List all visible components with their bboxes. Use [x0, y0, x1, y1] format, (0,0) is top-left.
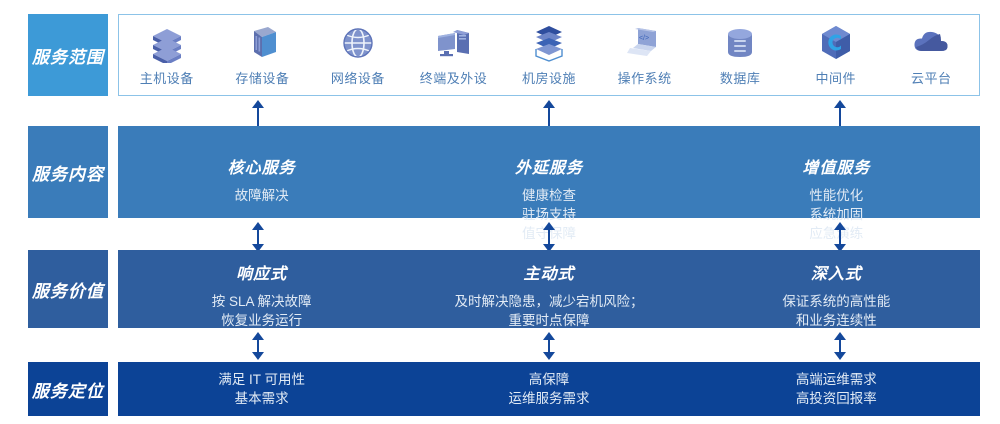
service-positioning-columns: 满足 IT 可用性基本需求高保障运维服务需求高端运维需求高投资回报率 — [118, 362, 980, 424]
positioning-line: 运维服务需求 — [508, 389, 589, 408]
service-value-columns: 响应式按 SLA 解决故障恢复业务运行主动式及时解决隐患，减少宕机风险；重要时点… — [118, 250, 980, 338]
scope-item-label: 云平台 — [911, 68, 952, 87]
positioning-column-lines: 满足 IT 可用性基本需求 — [218, 370, 305, 408]
arrow-shaft — [548, 339, 550, 353]
positioning-line: 高保障 — [508, 370, 589, 389]
service-content-panel: 核心服务故障解决外延服务健康检查驻场支持值守保障增值服务性能优化系统加固应急演练 — [118, 126, 980, 218]
positioning-line: 基本需求 — [218, 389, 305, 408]
server-stack-icon — [147, 23, 187, 63]
positioning-column-3[interactable]: 高端运维需求高投资回报率 — [693, 370, 980, 424]
content-column-title: 外延服务 — [515, 154, 583, 178]
scope-item-label: 中间件 — [815, 68, 856, 87]
globe-network-icon — [338, 23, 378, 63]
connector-value-to-position-center — [542, 332, 556, 360]
content-line: 故障解决 — [235, 186, 289, 205]
arrow-shaft — [257, 229, 259, 245]
service-positioning-panel: 满足 IT 可用性基本需求高保障运维服务需求高端运维需求高投资回报率 — [118, 362, 980, 416]
scope-item-label: 机房设施 — [522, 68, 576, 87]
connector-scope-to-content-left — [251, 100, 265, 126]
scope-icon-row: 主机设备 存储设备 网络设备 终端及外设 机房设施 — [119, 15, 979, 95]
content-line: 健康检查 — [522, 186, 576, 205]
arrow-head-down-icon — [543, 352, 555, 360]
value-column-title: 响应式 — [236, 260, 287, 284]
value-column-lines: 及时解决隐患，减少宕机风险；重要时点保障 — [454, 292, 643, 330]
positioning-column-1[interactable]: 满足 IT 可用性基本需求 — [118, 370, 405, 424]
row-label-service-value: 服务价值 — [28, 250, 108, 328]
value-line: 按 SLA 解决故障 — [212, 292, 312, 311]
cloud-platform-icon — [911, 23, 951, 63]
svg-text:</>: </> — [639, 35, 649, 42]
arrow-shaft — [548, 229, 550, 245]
row-label-service-content: 服务内容 — [28, 126, 108, 218]
value-column-title: 主动式 — [523, 260, 574, 284]
service-scope-panel: 主机设备 存储设备 网络设备 终端及外设 机房设施 — [118, 14, 980, 96]
service-value-panel: 响应式按 SLA 解决故障恢复业务运行主动式及时解决隐患，减少宕机风险；重要时点… — [118, 250, 980, 328]
positioning-column-lines: 高保障运维服务需求 — [508, 370, 589, 408]
connector-content-to-value-center — [542, 222, 556, 252]
value-column-lines: 按 SLA 解决故障恢复业务运行 — [212, 292, 312, 330]
scope-item-4[interactable]: 终端及外设 — [406, 15, 502, 95]
value-line: 保证系统的高性能 — [782, 292, 890, 311]
value-column-2[interactable]: 主动式及时解决隐患，减少宕机风险；重要时点保障 — [405, 260, 692, 338]
arrow-head-down-icon — [252, 352, 264, 360]
positioning-column-2[interactable]: 高保障运维服务需求 — [405, 370, 692, 424]
arrow-shaft — [839, 229, 841, 245]
row-label-service-positioning: 服务定位 — [28, 362, 108, 416]
scope-item-8[interactable]: 中间件 — [788, 15, 884, 95]
data-center-facility-icon — [529, 23, 569, 63]
content-line: 性能优化 — [809, 186, 863, 205]
scope-item-label: 终端及外设 — [420, 68, 488, 87]
value-line: 及时解决隐患，减少宕机风险； — [454, 292, 643, 311]
value-line: 重要时点保障 — [454, 311, 643, 330]
middleware-cube-icon — [816, 23, 856, 63]
service-framework-diagram: 服务范围 主机设备 存储设备 网络设备 — [0, 0, 1000, 424]
scope-item-1[interactable]: 主机设备 — [119, 15, 215, 95]
scope-item-5[interactable]: 机房设施 — [501, 15, 597, 95]
value-column-title: 深入式 — [811, 260, 862, 284]
scope-item-label: 操作系统 — [618, 68, 672, 87]
scope-item-label: 主机设备 — [140, 68, 194, 87]
row-label-text: 服务内容 — [32, 160, 104, 185]
row-label-text: 服务价值 — [32, 277, 104, 302]
scope-item-label: 网络设备 — [331, 68, 385, 87]
scope-item-3[interactable]: 网络设备 — [310, 15, 406, 95]
storage-array-icon — [242, 23, 282, 63]
connector-value-to-position-right — [833, 332, 847, 360]
arrow-shaft — [257, 339, 259, 353]
arrow-shaft — [839, 107, 841, 126]
value-column-3[interactable]: 深入式保证系统的高性能和业务连续性 — [693, 260, 980, 338]
connector-scope-to-content-right — [833, 100, 847, 126]
scope-item-6[interactable]: </> 操作系统 — [597, 15, 693, 95]
positioning-column-lines: 高端运维需求高投资回报率 — [796, 370, 877, 408]
content-column-lines: 故障解决 — [235, 186, 289, 205]
connector-scope-to-content-center — [542, 100, 556, 126]
arrow-shaft — [839, 339, 841, 353]
positioning-line: 高端运维需求 — [796, 370, 877, 389]
operating-system-icon: </> — [625, 23, 665, 63]
scope-item-label: 存储设备 — [235, 68, 289, 87]
database-cylinder-icon — [720, 23, 760, 63]
arrow-shaft — [548, 107, 550, 126]
content-column-title: 核心服务 — [228, 154, 296, 178]
value-line: 和业务连续性 — [782, 311, 890, 330]
value-line: 恢复业务运行 — [212, 311, 312, 330]
scope-item-7[interactable]: 数据库 — [692, 15, 788, 95]
value-column-1[interactable]: 响应式按 SLA 解决故障恢复业务运行 — [118, 260, 405, 338]
desktop-pc-icon — [433, 23, 473, 63]
value-column-lines: 保证系统的高性能和业务连续性 — [782, 292, 890, 330]
row-label-text: 服务定位 — [32, 377, 104, 402]
content-column-title: 增值服务 — [802, 154, 870, 178]
positioning-line: 满足 IT 可用性 — [218, 370, 305, 389]
scope-item-2[interactable]: 存储设备 — [215, 15, 311, 95]
scope-item-9[interactable]: 云平台 — [884, 15, 980, 95]
arrow-shaft — [257, 107, 259, 126]
row-label-service-scope: 服务范围 — [28, 14, 108, 96]
positioning-line: 高投资回报率 — [796, 389, 877, 408]
scope-item-label: 数据库 — [720, 68, 761, 87]
row-label-text: 服务范围 — [32, 43, 104, 68]
arrow-head-down-icon — [834, 352, 846, 360]
connector-content-to-value-right — [833, 222, 847, 252]
connector-content-to-value-left — [251, 222, 265, 252]
connector-value-to-position-left — [251, 332, 265, 360]
